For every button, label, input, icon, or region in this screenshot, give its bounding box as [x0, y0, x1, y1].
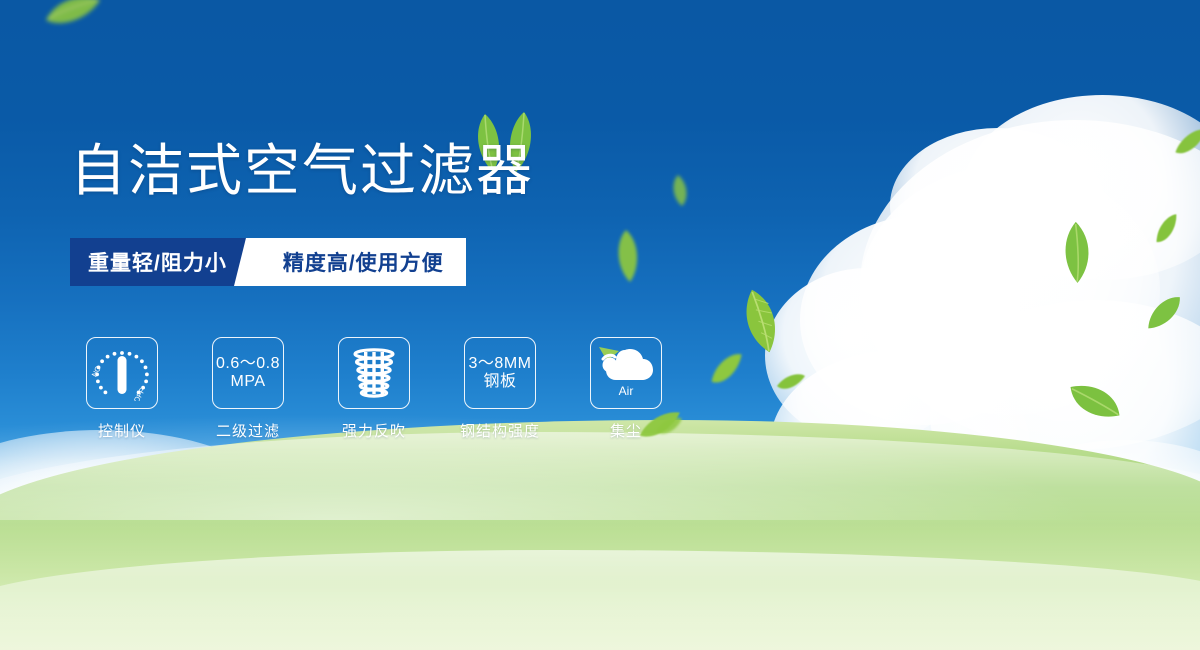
- horizon-cloud: [790, 470, 1120, 640]
- horizon-cloud: [250, 438, 580, 633]
- feature-icon-box: Air: [590, 337, 662, 409]
- horizon-cloud: [960, 440, 1200, 645]
- horizon-cloud: [160, 480, 400, 620]
- feature-label: 集尘: [610, 420, 642, 441]
- leaf-icon: [1137, 287, 1193, 340]
- leaf-icon: [702, 348, 751, 390]
- feature-item-blowback[interactable]: 强力反吹: [322, 337, 426, 441]
- leaf-icon: [726, 282, 795, 359]
- cloud-air-label: Air: [619, 384, 634, 398]
- feature-icon-box: NO OFF: [86, 337, 158, 409]
- leaf-icon: [1044, 215, 1113, 288]
- feature-list: NO OFF 控制仪 0.6～0.8 MPA 二级过滤: [70, 337, 678, 441]
- subtitle-right-text: 精度高/使用方便: [259, 238, 466, 286]
- leaf-icon: [44, 0, 102, 28]
- leaf-icon: [1066, 373, 1126, 429]
- feature-label: 控制仪: [98, 420, 146, 441]
- grass-field: [0, 420, 1200, 650]
- cloud-air-icon: Air: [597, 345, 655, 401]
- leaf-icon: [1147, 210, 1187, 247]
- product-banner: 自洁式空气过滤器 重量轻/阻力小 精度高/使用方便: [0, 0, 1200, 650]
- subtitle-bar: 重量轻/阻力小 精度高/使用方便: [70, 238, 466, 286]
- leaf-icon: [1169, 125, 1200, 160]
- cloud-shape: [930, 300, 1200, 530]
- pressure-text-icon: 0.6～0.8 MPA: [216, 355, 280, 391]
- leaf-icon: [614, 228, 644, 284]
- gauge-icon: NO OFF: [91, 345, 153, 401]
- horizon-haze: [0, 455, 1200, 605]
- cloud-shape: [860, 120, 1200, 450]
- feature-icon-box: 0.6～0.8 MPA: [212, 337, 284, 409]
- cloud-shape: [770, 350, 1030, 540]
- horizon-cloud: [590, 452, 930, 637]
- feature-item-pressure[interactable]: 0.6～0.8 MPA 二级过滤: [196, 337, 300, 441]
- horizon-cloud: [420, 466, 720, 631]
- cloud-shape: [860, 165, 1160, 415]
- feature-item-steel[interactable]: 3～8MM 钢板 钢结构强度: [448, 337, 552, 441]
- horizon-cloud: [690, 486, 940, 631]
- pressure-line2: MPA: [216, 373, 280, 391]
- feature-label: 钢结构强度: [460, 420, 540, 441]
- filter-cartridge-icon: [347, 346, 401, 400]
- steel-line1: 3～8MM: [469, 355, 532, 373]
- feature-icon-box: [338, 337, 410, 409]
- pressure-line1: 0.6～0.8: [216, 355, 280, 373]
- grass-foreground-band: [0, 550, 1200, 650]
- feature-icon-box: 3～8MM 钢板: [464, 337, 536, 409]
- subtitle-left-text: 重量轻/阻力小: [70, 238, 247, 286]
- cloud-shape: [890, 128, 1105, 283]
- leaf-icon: [670, 174, 692, 208]
- feature-item-dust[interactable]: Air 集尘: [574, 337, 678, 441]
- page-title: 自洁式空气过滤器: [70, 143, 534, 199]
- gauge-min-label: NO: [91, 364, 103, 378]
- grass-ridge-highlight: [0, 432, 1200, 582]
- feature-item-controller[interactable]: NO OFF 控制仪: [70, 337, 174, 441]
- feature-label: 强力反吹: [342, 420, 406, 441]
- steel-line2: 钢板: [469, 373, 532, 391]
- cloud-shape: [800, 215, 1050, 425]
- feature-label: 二级过滤: [216, 420, 280, 441]
- cloud-shape: [965, 95, 1200, 280]
- horizon-cloud: [60, 455, 390, 630]
- leaf-icon: [776, 372, 806, 392]
- cloud-shape: [765, 268, 970, 443]
- steel-plate-text-icon: 3～8MM 钢板: [469, 355, 532, 391]
- horizon-cloud: [0, 430, 310, 645]
